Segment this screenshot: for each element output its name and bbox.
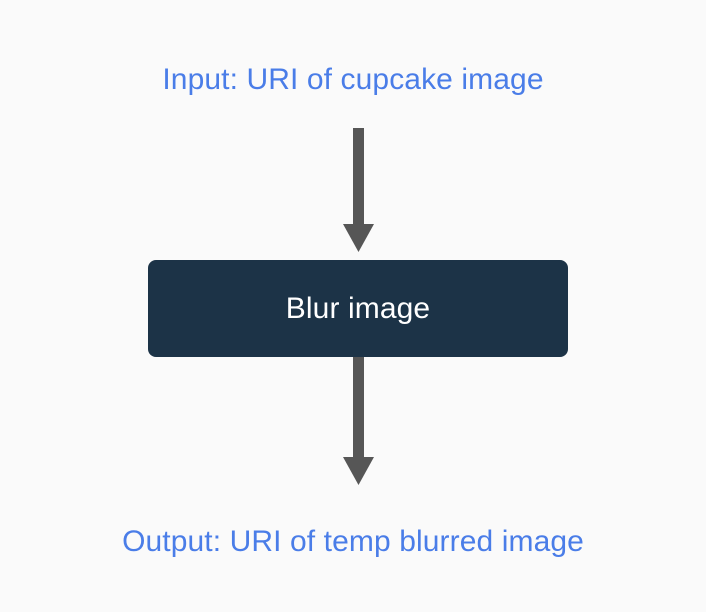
output-node-label: Output: URI of temp blurred image <box>0 527 706 557</box>
flowchart-canvas: Input: URI of cupcake image Blur image O… <box>0 0 706 612</box>
arrow-head-icon <box>343 457 374 485</box>
arrow-input-to-process <box>0 128 706 252</box>
arrow-process-to-output <box>0 357 706 487</box>
input-node-label: Input: URI of cupcake image <box>0 65 706 95</box>
arrow-shaft <box>353 357 364 461</box>
process-node-blur-image[interactable]: Blur image <box>148 260 568 357</box>
arrow-head-icon <box>343 224 374 252</box>
process-node-label: Blur image <box>286 294 430 324</box>
arrow-shaft <box>353 128 364 228</box>
